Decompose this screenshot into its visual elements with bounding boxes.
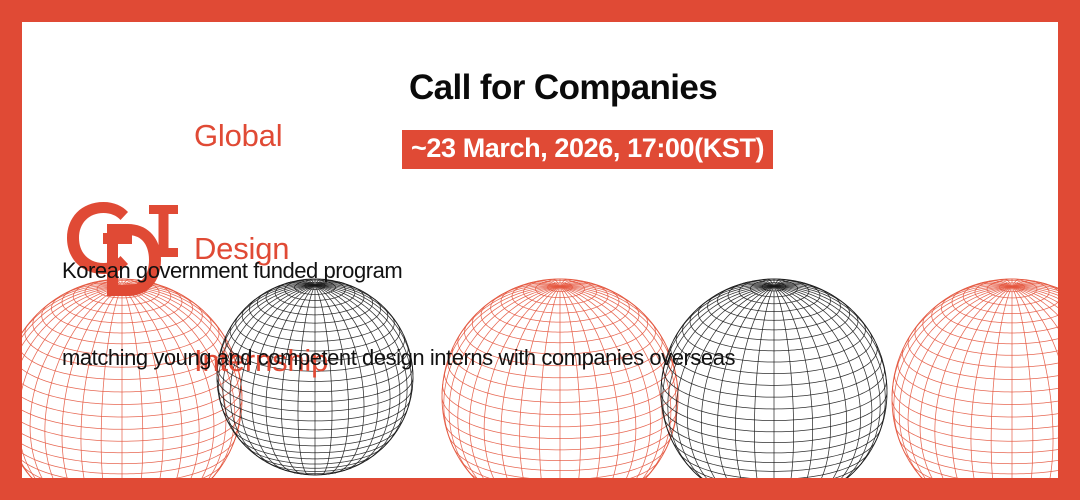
wordmark-line-1: Global	[194, 117, 328, 155]
program-description: Korean government funded program matchin…	[62, 197, 735, 431]
banner-canvas: Global Design Internship Call for Compan…	[22, 22, 1058, 478]
page-title: Call for Companies	[409, 68, 717, 108]
wireframe-globe	[890, 277, 1058, 478]
deadline-badge: ~23 March, 2026, 17:00(KST)	[402, 130, 773, 169]
description-line-1: Korean government funded program	[62, 256, 735, 285]
description-line-2: matching young and competent design inte…	[62, 343, 735, 372]
promo-banner: Global Design Internship Call for Compan…	[0, 0, 1080, 500]
